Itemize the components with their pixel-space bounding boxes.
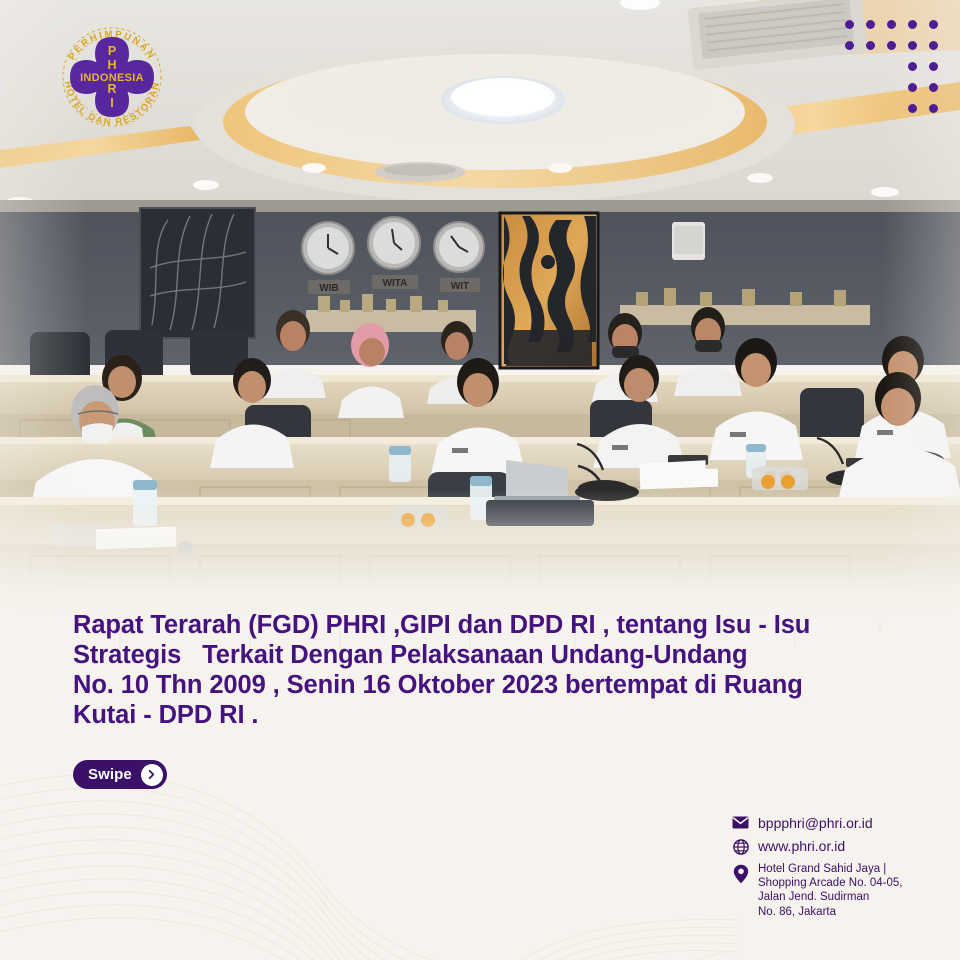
logo-letter-r: R: [107, 82, 116, 96]
headline-line-2: Strategis Terkait Dengan Pelaksanaan Und…: [73, 640, 903, 670]
grid-dot: [845, 41, 854, 50]
swipe-button[interactable]: Swipe: [73, 760, 167, 789]
grid-dot: [866, 41, 875, 50]
email-icon: [731, 815, 750, 829]
grid-dot: [908, 104, 917, 113]
photo-bottom-fade: [0, 490, 960, 620]
grid-dot: [908, 20, 917, 29]
grid-dot: [908, 41, 917, 50]
contact-address: Hotel Grand Sahid Jaya | Shopping Arcade…: [758, 862, 903, 919]
grid-dot: [887, 20, 896, 29]
background-swirl-pattern: [0, 700, 740, 960]
contact-website-row[interactable]: www.phri.or.id: [731, 838, 946, 855]
grid-dot: [929, 104, 938, 113]
grid-dot: [929, 83, 938, 92]
logo-letter-h: H: [107, 58, 116, 72]
location-pin-icon: [731, 862, 750, 884]
grid-dot: [929, 62, 938, 71]
address-line-4: No. 86, Jakarta: [758, 906, 836, 918]
contact-address-row: Hotel Grand Sahid Jaya | Shopping Arcade…: [731, 862, 946, 919]
address-line-2: Shopping Arcade No. 04-05,: [758, 877, 903, 889]
contact-block: bppphri@phri.or.id www.phri.or.id: [731, 815, 946, 926]
headline-line-1: Rapat Terarah (FGD) PHRI ,GIPI dan DPD R…: [73, 610, 903, 640]
address-line-1: Hotel Grand Sahid Jaya |: [758, 863, 886, 875]
decorative-dot-grid: [845, 20, 945, 112]
logo-letter-p: P: [108, 44, 116, 58]
grid-dot: [845, 20, 854, 29]
logo-center-text: INDONESIA: [80, 72, 144, 84]
grid-dot: [908, 83, 917, 92]
contact-email-row[interactable]: bppphri@phri.or.id: [731, 815, 946, 831]
grid-dot: [929, 41, 938, 50]
headline-line-4: Kutai - DPD RI .: [73, 700, 903, 730]
chevron-right-icon: [141, 764, 163, 786]
headline-line-3: No. 10 Thn 2009 , Senin 16 Oktober 2023 …: [73, 670, 903, 700]
grid-dot: [929, 20, 938, 29]
contact-email: bppphri@phri.or.id: [758, 815, 873, 831]
grid-dot: [887, 41, 896, 50]
logo-letter-i: I: [110, 96, 113, 110]
phri-logo: PERHIMPUNAN HOTEL DAN RESTORAN P H R I I…: [47, 14, 177, 139]
contact-website: www.phri.or.id: [758, 838, 845, 854]
swipe-label: Swipe: [88, 766, 132, 783]
grid-dot: [866, 20, 875, 29]
social-post-canvas: WIB WITA WIT: [0, 0, 960, 960]
grid-dot: [908, 62, 917, 71]
address-line-3: Jalan Jend. Sudirman: [758, 891, 869, 903]
headline: Rapat Terarah (FGD) PHRI ,GIPI dan DPD R…: [73, 610, 903, 730]
globe-icon: [731, 838, 750, 855]
